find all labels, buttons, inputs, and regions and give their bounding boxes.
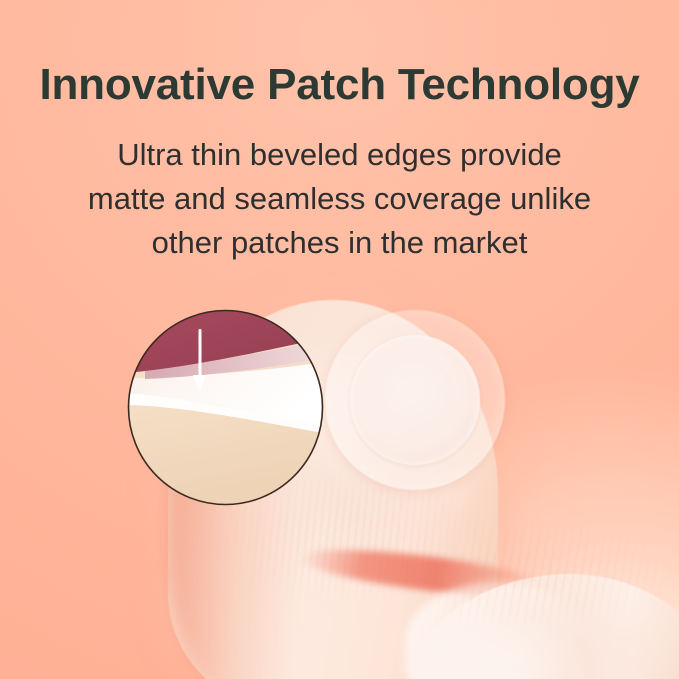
subtitle-line-2: matte and seamless coverage unlike — [0, 177, 679, 221]
subtitle: Ultra thin beveled edges provide matte a… — [0, 133, 679, 265]
subtitle-line-3: other patches in the market — [0, 221, 679, 265]
patch-cross-section-inset — [127, 309, 324, 506]
acne-patch-core — [350, 335, 480, 465]
subtitle-line-1: Ultra thin beveled edges provide — [0, 133, 679, 177]
page-title: Innovative Patch Technology — [0, 62, 679, 108]
product-marketing-image: Innovative Patch Technology Ultra thin b… — [0, 0, 679, 679]
fingerprint-ridges-second — [420, 520, 679, 630]
